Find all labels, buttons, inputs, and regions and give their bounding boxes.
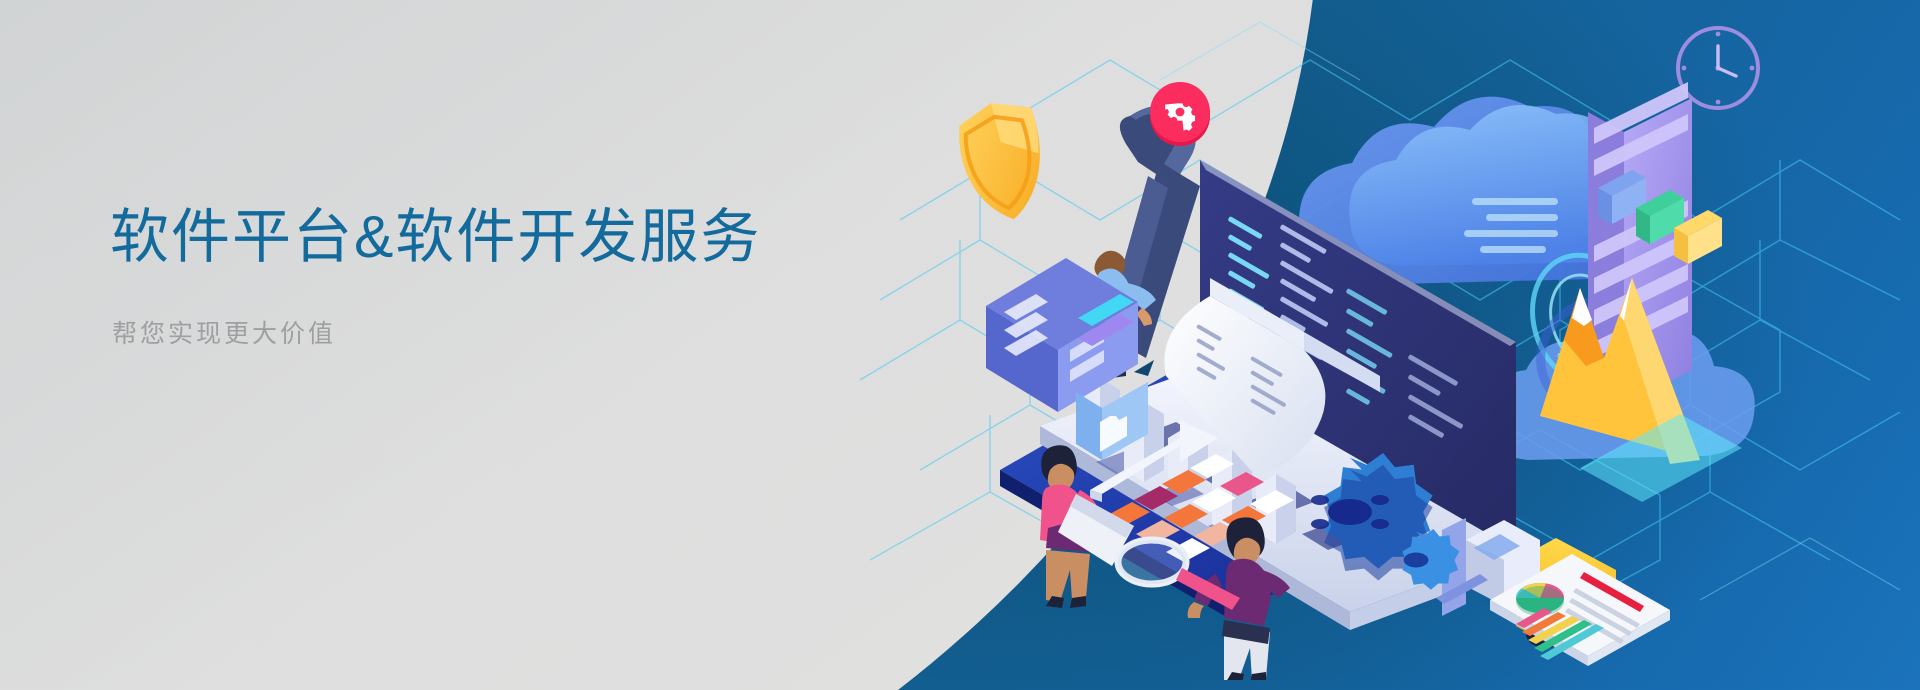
page-subtitle: 帮您实现更大价值 bbox=[112, 314, 870, 350]
hero-copy: 软件平台&软件开发服务 帮您实现更大价值 bbox=[110, 206, 870, 350]
hero-banner: 软件平台&软件开发服务 帮您实现更大价值 bbox=[0, 0, 1920, 690]
page-title: 软件平台&软件开发服务 bbox=[110, 206, 870, 270]
gear-badge-icon bbox=[1150, 82, 1210, 146]
hero-illustration bbox=[880, 20, 1920, 680]
clock-icon bbox=[1678, 28, 1758, 108]
shield-icon bbox=[951, 94, 1057, 228]
